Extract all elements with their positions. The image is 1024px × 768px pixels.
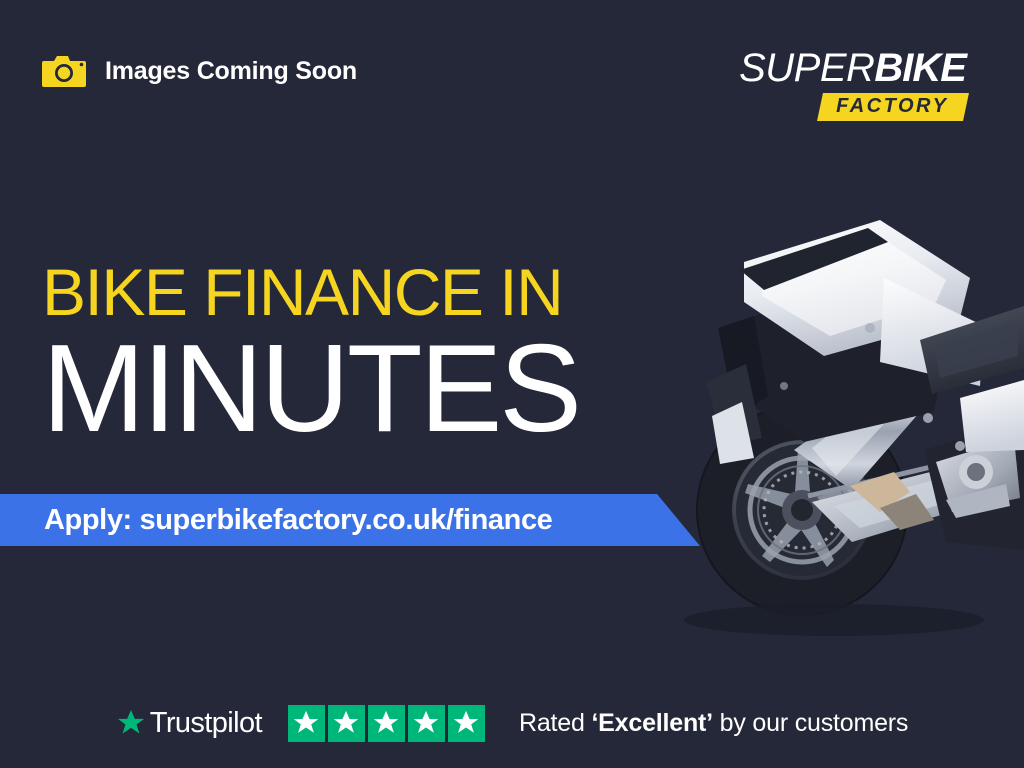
apply-url-text: Apply: superbikefactory.co.uk/finance — [0, 504, 552, 537]
superbike-factory-logo: SUPERBIKE FACTORY — [739, 46, 966, 121]
logo-word-super: SUPER — [739, 46, 874, 90]
trustpilot-rating-bar: Trustpilot Rated ‘Excellent’ by our cust… — [0, 678, 1024, 768]
logo-factory-banner: FACTORY — [817, 93, 969, 121]
trustpilot-logo: Trustpilot — [116, 707, 262, 740]
star-icon — [408, 705, 445, 742]
apply-banner[interactable]: Apply: superbikefactory.co.uk/finance — [0, 494, 700, 546]
images-coming-soon-label: Images Coming Soon — [105, 57, 357, 86]
logo-word-bike: BIKE — [874, 46, 966, 90]
rating-caption-prefix: Rated — [519, 709, 591, 737]
rating-caption: Rated ‘Excellent’ by our customers — [519, 709, 908, 738]
trustpilot-star-icon — [116, 708, 146, 738]
star-icon — [288, 705, 325, 742]
headline-line-1: BIKE FINANCE IN — [42, 258, 579, 326]
headline-line-2: MINUTES — [42, 328, 579, 450]
camera-icon — [42, 53, 88, 89]
motorcycle-rear-photo — [684, 150, 1024, 650]
logo-wordmark: SUPERBIKE — [739, 46, 966, 90]
trustpilot-star-rating — [288, 705, 485, 742]
logo-factory-label: FACTORY — [836, 95, 948, 118]
trustpilot-wordmark: Trustpilot — [150, 707, 262, 740]
rating-caption-suffix: by our customers — [713, 709, 908, 737]
rating-caption-emphasis: ‘Excellent’ — [591, 709, 712, 737]
images-coming-soon-badge: Images Coming Soon — [42, 53, 357, 89]
headline: BIKE FINANCE IN MINUTES — [42, 258, 579, 450]
star-icon — [328, 705, 365, 742]
promo-banner: Images Coming Soon SUPERBIKE FACTORY — [0, 0, 1024, 768]
star-icon — [448, 705, 485, 742]
star-icon — [368, 705, 405, 742]
